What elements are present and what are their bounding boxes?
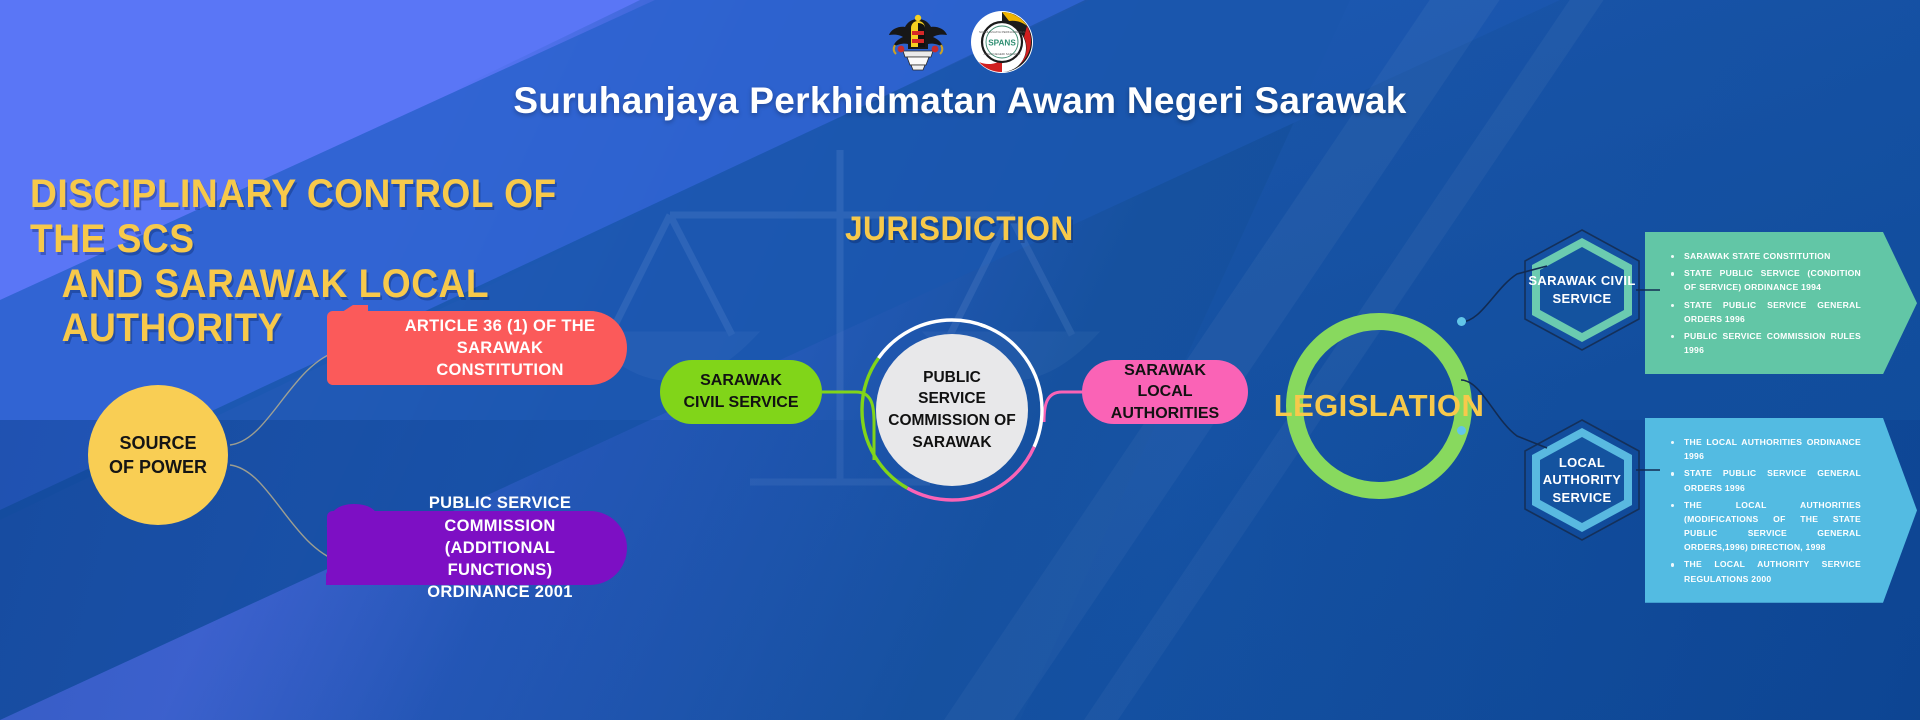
svg-text:SURUHANJAYA PERKHIDMATAN: SURUHANJAYA PERKHIDMATAN [979,30,1025,34]
list-item: THE LOCAL AUTHORITY SERVICE REGULATIONS … [1671,557,1861,585]
svg-text:AWAM NEGERI SARAWAK: AWAM NEGERI SARAWAK [983,52,1020,56]
list-item: SARAWAK STATE CONSTITUTION [1671,249,1861,263]
left-heading-line-1: DISCIPLINARY CONTROL OF THE SCS [30,172,607,262]
list-item: STATE PUBLIC SERVICE GENERAL ORDERS 1996 [1671,466,1861,494]
legislation-branch-dot-top [1457,317,1466,326]
sarawak-civil-service-node[interactable]: SARAWAK CIVIL SERVICE [660,360,822,424]
sarawak-local-authorities-node[interactable]: SARAWAK LOCAL AUTHORITIES [1082,360,1248,424]
legislation-list-civil-service: SARAWAK STATE CONSTITUTION STATE PUBLIC … [1645,232,1917,374]
source-item-article-36[interactable]: ARTICLE 36 (1) OF THE SARAWAK CONSTITUTI… [327,311,627,385]
list-item: STATE PUBLIC SERVICE (CONDITION OF SERVI… [1671,266,1861,294]
source-of-power-node[interactable]: SOURCE OF POWER [88,385,228,525]
legislation-connector-lines [1455,230,1575,510]
spans-logo-icon: SPANS SURUHANJAYA PERKHIDMATAN AWAM NEGE… [969,9,1035,75]
page-header: SPANS SURUHANJAYA PERKHIDMATAN AWAM NEGE… [0,0,1920,122]
legislation-label: LEGISLATION [1274,388,1485,424]
crest-row: SPANS SURUHANJAYA PERKHIDMATAN AWAM NEGE… [0,0,1920,76]
source-of-power-line-1: SOURCE [109,431,207,455]
hex-to-box-connectors [1636,280,1662,480]
legislation-list-local-authority: THE LOCAL AUTHORITIES ORDINANCE 1996 STA… [1645,418,1917,603]
list-item: THE LOCAL AUTHORITIES ORDINANCE 1996 [1671,435,1861,463]
source-of-power-line-2: OF POWER [109,455,207,479]
sarawak-state-crest-icon [885,9,951,75]
psc-sarawak-node[interactable]: PUBLIC SERVICE COMMISSION OF SARAWAK [876,334,1028,486]
page-title: Suruhanjaya Perkhidmatan Awam Negeri Sar… [0,80,1920,122]
legislation-branch-dot-bottom [1457,426,1466,435]
list-item: STATE PUBLIC SERVICE GENERAL ORDERS 1996 [1671,298,1861,326]
list-item: PUBLIC SERVICE COMMISSION RULES 1996 [1671,329,1861,357]
legislation-node[interactable]: LEGISLATION [1286,313,1472,499]
svg-text:SPANS: SPANS [988,38,1016,47]
infographic-canvas: SPANS SURUHANJAYA PERKHIDMATAN AWAM NEGE… [0,0,1920,720]
jurisdiction-heading: JURISDICTION [845,210,1074,248]
list-item: THE LOCAL AUTHORITIES (MODIFICATIONS OF … [1671,498,1861,555]
source-item-psc-ordinance[interactable]: PUBLIC SERVICE COMMISSION (ADDITIONAL FU… [327,511,627,585]
